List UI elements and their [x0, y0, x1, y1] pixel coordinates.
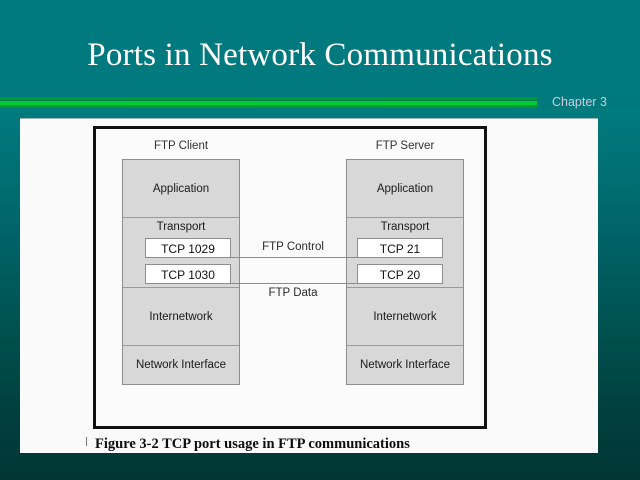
layer-server-application: Application [347, 160, 463, 218]
layer-server-network-interface: Network Interface [347, 346, 463, 384]
content-panel: FTP Client Application Transport TCP 102… [20, 118, 598, 453]
chapter-label: Chapter 3 [552, 94, 607, 110]
protocol-stack-server: Application Transport TCP 21 TCP 20 Inte… [346, 159, 464, 385]
divider-rule-bottom-line [0, 105, 537, 108]
connector-line-ftp-data [229, 283, 357, 284]
divider-rule [0, 97, 537, 108]
layer-server-transport-label: Transport [347, 218, 463, 237]
layer-server-internetwork: Internetwork [347, 288, 463, 346]
layer-server-transport: Transport TCP 21 TCP 20 [347, 218, 463, 288]
connector-label-ftp-data: FTP Data [229, 286, 357, 300]
host-label-server: FTP Server [346, 139, 464, 153]
port-box-client-control: TCP 1029 [145, 238, 231, 258]
caption-tick-mark [86, 437, 87, 446]
port-box-server-data: TCP 20 [357, 264, 443, 284]
protocol-stack-client: Application Transport TCP 1029 TCP 1030 … [122, 159, 240, 385]
connector-label-ftp-control: FTP Control [229, 240, 357, 254]
layer-client-transport-label: Transport [123, 218, 239, 237]
layer-client-internetwork: Internetwork [123, 288, 239, 346]
connector-line-ftp-control [229, 257, 357, 258]
port-box-server-control: TCP 21 [357, 238, 443, 258]
page-title: Ports in Network Communications [0, 34, 640, 76]
port-box-client-data: TCP 1030 [145, 264, 231, 284]
figure-frame: FTP Client Application Transport TCP 102… [93, 126, 487, 429]
host-label-client: FTP Client [122, 139, 240, 153]
slide: Ports in Network Communications Chapter … [0, 0, 640, 480]
layer-client-network-interface: Network Interface [123, 346, 239, 384]
figure-caption: Figure 3-2 TCP port usage in FTP communi… [95, 435, 410, 453]
layer-client-transport: Transport TCP 1029 TCP 1030 [123, 218, 239, 288]
layer-client-application: Application [123, 160, 239, 218]
